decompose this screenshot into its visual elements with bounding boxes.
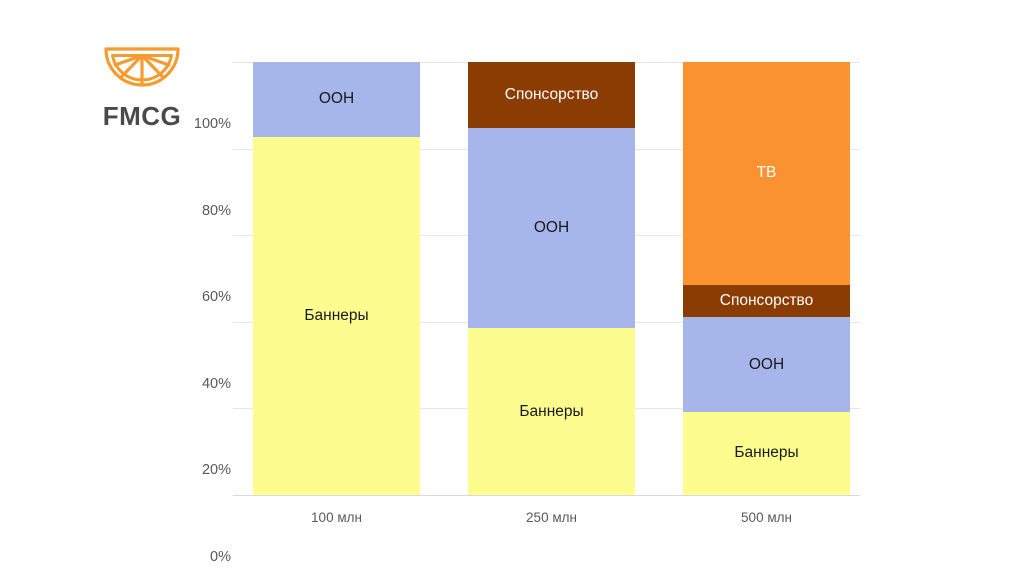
stacked-bar-chart: 0%20%40%60%80%100% ООНБаннерыСпонсорство… [0,0,1024,575]
bar-segment-label: Баннеры [304,307,368,325]
bar-segment-label: Баннеры [519,403,583,421]
bar-segment-label: ТВ [757,164,777,182]
bar-segment-label: ООН [319,90,354,108]
x-tick-label: 250 млн [468,510,635,525]
y-axis: 0%20%40%60%80%100% [175,62,231,495]
bar-segment-label: ООН [749,356,784,374]
y-tick-label: 80% [175,203,231,219]
gridline-0% [233,495,860,496]
bar-segment-Баннеры[interactable]: Баннеры [683,412,850,495]
bar-segment-label: Спонсорство [505,86,598,104]
bar-segment-ООН[interactable]: ООН [468,128,635,328]
bar-segment-label: Спонсорство [720,292,813,310]
y-tick-label: 40% [175,376,231,392]
bar-segment-label: ООН [534,219,569,237]
y-tick-label: 20% [175,462,231,478]
y-tick-label: 100% [175,116,231,132]
plot-area: ООНБаннерыСпонсорствоООНБаннерыТВСпонсор… [253,62,860,495]
bar-segment-Спонсорство[interactable]: Спонсорство [468,62,635,128]
bar-segment-Спонсорство[interactable]: Спонсорство [683,285,850,318]
x-tick-label: 500 млн [683,510,850,525]
bar-250-млн[interactable]: СпонсорствоООНБаннеры [468,62,635,495]
bar-segment-Баннеры[interactable]: Баннеры [468,328,635,495]
bar-segment-Баннеры[interactable]: Баннеры [253,137,420,495]
y-tick-label: 0% [175,549,231,565]
y-tick-label: 60% [175,289,231,305]
bar-100-млн[interactable]: ООНБаннеры [253,62,420,495]
bar-segment-ООН[interactable]: ООН [253,62,420,137]
bar-segment-ТВ[interactable]: ТВ [683,62,850,285]
bar-segment-label: Баннеры [734,444,798,462]
x-tick-label: 100 млн [253,510,420,525]
bar-segment-ООН[interactable]: ООН [683,317,850,411]
bar-500-млн[interactable]: ТВСпонсорствоООНБаннеры [683,62,850,495]
